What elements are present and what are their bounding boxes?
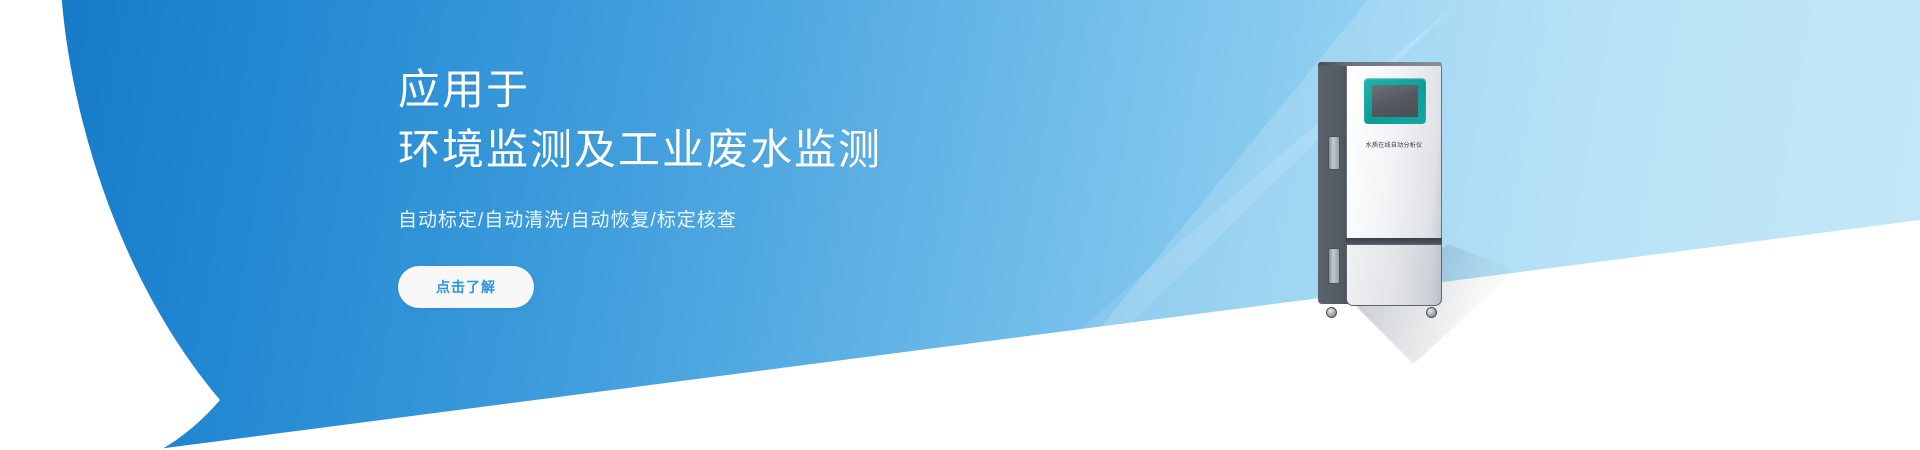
cabinet-side-panel (1318, 62, 1348, 304)
cabinet-top-cap (1318, 62, 1442, 66)
headline-line-2: 环境监测及工业废水监测 (398, 120, 1038, 180)
banner-subtitle: 自动标定/自动清洗/自动恢复/标定核查 (398, 205, 1038, 232)
page-title: 应用于 环境监测及工业废水监测 (398, 60, 1038, 179)
cabinet-caster-left-icon (1326, 307, 1337, 318)
product-label-text: 水质在线自动分析仪 (1348, 140, 1440, 149)
product-analyzer-cabinet: 水质在线自动分析仪 (1318, 62, 1446, 312)
cabinet-lower-drawer (1346, 244, 1442, 306)
banner-copy: 应用于 环境监测及工业废水监测 自动标定/自动清洗/自动恢复/标定核查 点击了解 (398, 60, 1038, 308)
cabinet-screen-display (1372, 85, 1418, 117)
headline-line-1: 应用于 (398, 60, 1038, 120)
cabinet-caster-right-icon (1426, 307, 1437, 318)
cabinet-lower-handle-icon (1328, 248, 1340, 284)
cabinet-screen-bezel (1364, 78, 1426, 124)
hero-banner: 应用于 环境监测及工业废水监测 自动标定/自动清洗/自动恢复/标定核查 点击了解… (0, 0, 1920, 450)
learn-more-button[interactable]: 点击了解 (398, 266, 534, 308)
cabinet-upper-handle-icon (1328, 136, 1340, 170)
